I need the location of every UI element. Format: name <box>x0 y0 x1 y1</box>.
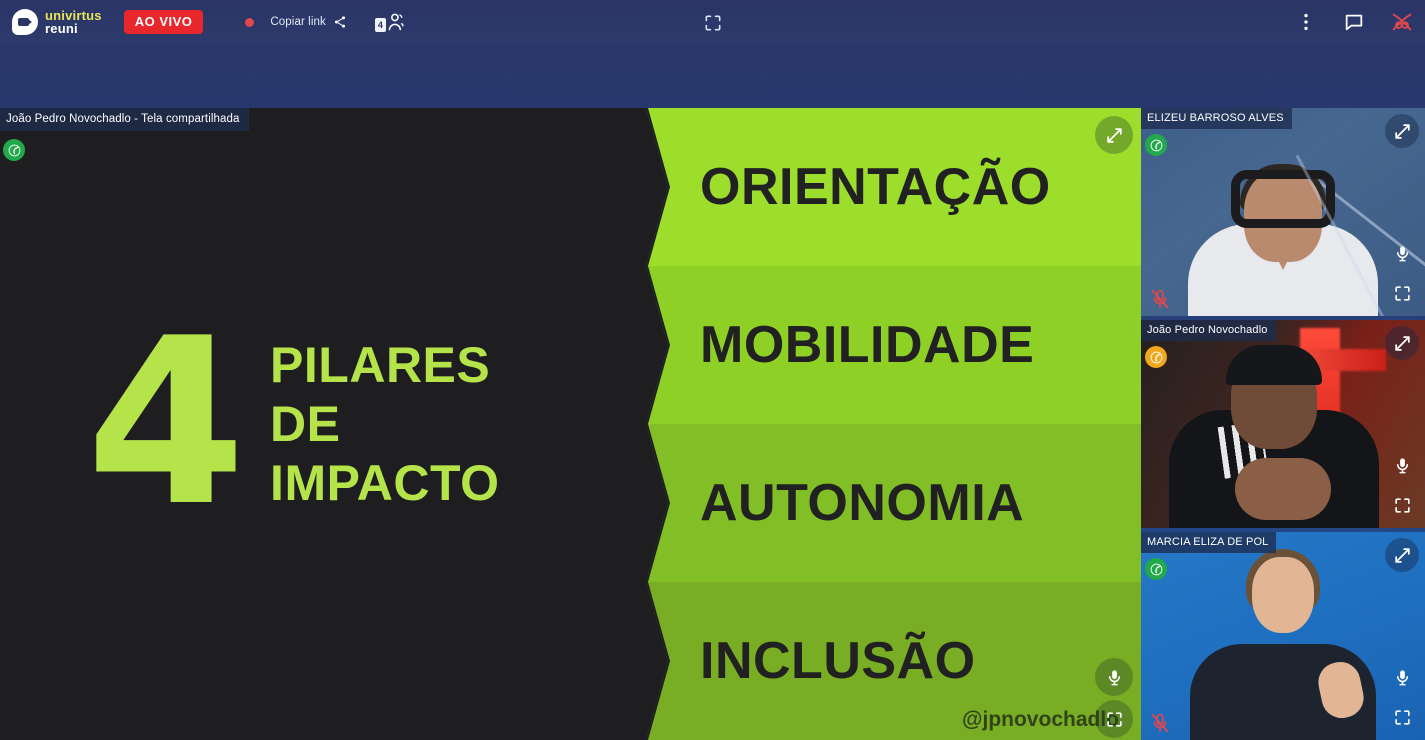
microphone-icon <box>1393 668 1412 687</box>
signal-strength-icon <box>3 139 25 161</box>
end-call-icon[interactable] <box>1391 11 1413 33</box>
participant-mic-button[interactable] <box>1385 660 1419 694</box>
fullscreen-crop-icon <box>1393 496 1412 515</box>
recording-dot-icon <box>245 18 254 27</box>
share-icon <box>333 15 347 29</box>
pillar-bars: ORIENTAÇÃO MOBILIDADE AUTONOMIA INCLUSÃO… <box>638 108 1141 740</box>
live-badge: AO VIVO <box>124 10 204 34</box>
participant-fullscreen-button[interactable] <box>1385 488 1419 522</box>
chevron-notch-icon <box>638 424 670 582</box>
participant-name: ELIZEU BARROSO ALVES <box>1141 108 1292 129</box>
expand-diagonal-icon <box>1393 546 1412 565</box>
participant-rail: ELIZEU BARROSO ALVES <box>1141 108 1425 740</box>
pillar-bar-label: AUTONOMIA <box>700 473 1024 533</box>
signal-strength-icon <box>1145 134 1167 156</box>
microphone-muted-icon <box>1149 712 1171 734</box>
participant-name: MARCIA ELIZA DE POL <box>1141 532 1276 553</box>
brand-wordmark: univirtus reuni <box>45 9 102 36</box>
more-vertical-icon[interactable] <box>1295 11 1317 33</box>
participant-fullscreen-button[interactable] <box>1385 700 1419 734</box>
participants-button[interactable]: 4 <box>375 12 405 32</box>
slide-heading: PILARES DE IMPACTO <box>270 336 499 513</box>
pillar-bar: AUTONOMIA <box>638 424 1141 582</box>
slide-number: 4 <box>86 334 240 513</box>
top-bar: univirtus reuni AO VIVO Copiar link 4 <box>0 0 1425 44</box>
brand-line-1: univirtus <box>45 9 102 22</box>
copy-link-label: Copiar link <box>270 16 325 28</box>
expand-participant-button[interactable] <box>1385 538 1419 572</box>
participant-count: 4 <box>375 18 386 32</box>
shared-screen-stage[interactable]: 4 PILARES DE IMPACTO ORIENTAÇÃO MOBILIDA… <box>0 108 1141 740</box>
microphone-icon <box>1393 456 1412 475</box>
pillar-bar: MOBILIDADE <box>638 266 1141 424</box>
pillar-bar-label: MOBILIDADE <box>700 315 1034 375</box>
participant-tile[interactable]: ELIZEU BARROSO ALVES <box>1141 108 1425 316</box>
chevron-notch-icon <box>638 266 670 424</box>
expand-diagonal-icon <box>1105 126 1124 145</box>
chevron-notch-icon <box>638 582 670 740</box>
pillar-bar: INCLUSÃO @jpnovochadlo <box>638 582 1141 740</box>
participant-video <box>1141 532 1425 740</box>
fullscreen-icon[interactable] <box>703 13 723 33</box>
chat-bubble-icon[interactable] <box>1343 11 1365 33</box>
shared-screen-fullscreen-button[interactable] <box>1095 700 1133 738</box>
meeting-app: univirtus reuni AO VIVO Copiar link 4 <box>0 0 1425 740</box>
slide-heading-line-1: PILARES <box>270 336 499 395</box>
expand-shared-screen-button[interactable] <box>1095 116 1133 154</box>
microphone-icon <box>1105 668 1124 687</box>
pillar-bar-label: INCLUSÃO <box>700 631 976 691</box>
brand-line-2: reuni <box>45 22 102 35</box>
microphone-muted-icon <box>1149 288 1171 310</box>
video-chat-bubble-icon <box>12 9 38 35</box>
participant-mic-button[interactable] <box>1385 236 1419 270</box>
shared-screen-mic-button[interactable] <box>1095 658 1133 696</box>
expand-participant-button[interactable] <box>1385 114 1419 148</box>
expand-diagonal-icon <box>1393 334 1412 353</box>
expand-participant-button[interactable] <box>1385 326 1419 360</box>
chevron-notch-icon <box>638 108 670 266</box>
participant-name: João Pedro Novochadlo <box>1141 320 1276 341</box>
expand-diagonal-icon <box>1393 122 1412 141</box>
pillar-bar-label: ORIENTAÇÃO <box>700 157 1051 217</box>
participant-mic-button[interactable] <box>1385 448 1419 482</box>
people-icon <box>383 12 405 32</box>
fullscreen-crop-icon <box>1105 710 1124 729</box>
participant-tile[interactable]: João Pedro Novochadlo <box>1141 320 1425 528</box>
slide-heading-line-2: DE <box>270 395 499 454</box>
shared-screen-label: João Pedro Novochadlo - Tela compartilha… <box>0 108 249 131</box>
fullscreen-crop-icon <box>1393 708 1412 727</box>
copy-link-button[interactable]: Copiar link <box>270 15 346 29</box>
participant-video <box>1141 108 1425 316</box>
top-bar-actions <box>1295 11 1413 33</box>
signal-strength-icon <box>1145 558 1167 580</box>
slide-title-block: 4 PILARES DE IMPACTO <box>0 108 638 740</box>
participant-fullscreen-button[interactable] <box>1385 276 1419 310</box>
participant-video <box>1141 320 1425 528</box>
fullscreen-crop-icon <box>1393 284 1412 303</box>
pillar-bar: ORIENTAÇÃO <box>638 108 1141 266</box>
microphone-icon <box>1393 244 1412 263</box>
brand-logo[interactable]: univirtus reuni <box>12 9 102 36</box>
participant-tile[interactable]: MARCIA ELIZA DE POL <box>1141 532 1425 740</box>
signal-strength-icon <box>1145 346 1167 368</box>
slide-heading-line-3: IMPACTO <box>270 454 499 513</box>
presentation-slide: 4 PILARES DE IMPACTO ORIENTAÇÃO MOBILIDA… <box>0 108 1141 740</box>
